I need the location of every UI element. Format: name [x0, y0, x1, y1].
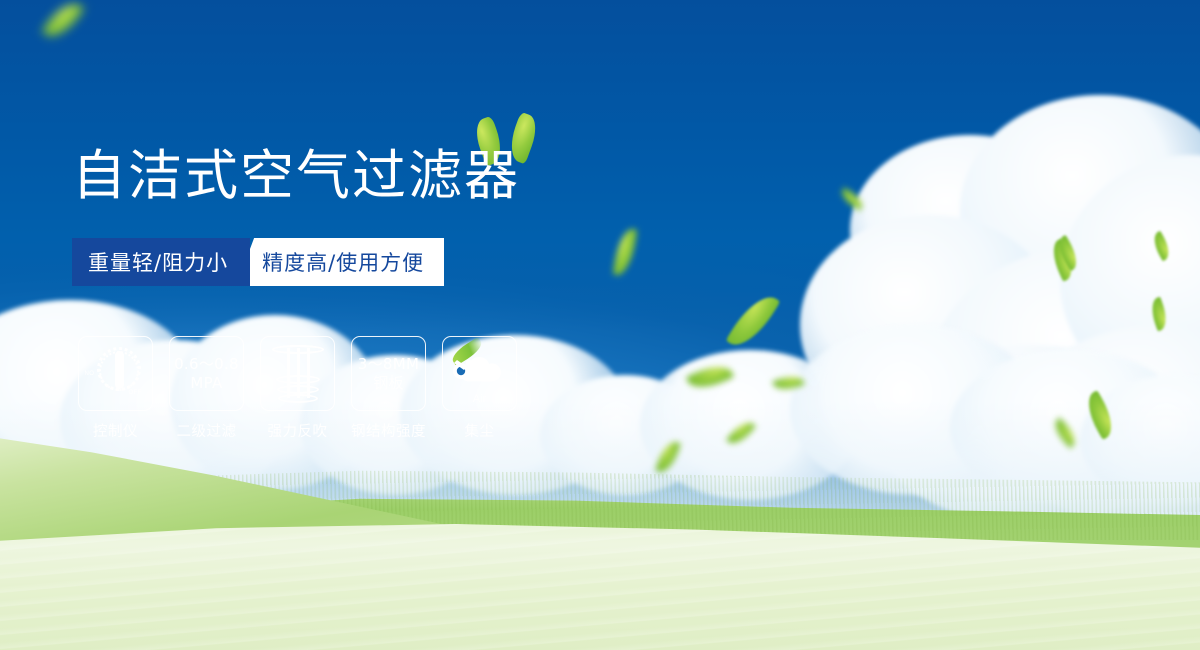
feature-icon-box: Air [442, 336, 517, 411]
cloud-air-icon: Air [448, 345, 512, 403]
feature-item-two-stage-filter[interactable]: 0.6～0.8 MPA 二级过滤 [169, 336, 244, 441]
pressure-unit: MPA [190, 374, 222, 393]
feature-icon-box: NO OFF [78, 336, 153, 411]
gauge-no-label: NO [85, 371, 95, 377]
air-label: Air [448, 393, 512, 405]
steel-material: 钢板 [373, 374, 404, 393]
steel-thickness: 3～8MM [358, 355, 419, 374]
feature-label: 控制仪 [78, 420, 153, 441]
gauge-off-label: OFF [129, 390, 142, 396]
feature-icon-box [260, 336, 335, 411]
feature-icon-box: 3～8MM 钢板 [351, 336, 426, 411]
page-title: 自洁式空气过滤器 [72, 145, 520, 207]
feature-item-dust-collection[interactable]: Air 集尘 [442, 336, 517, 441]
feature-item-strong-backblow[interactable]: 强力反吹 [260, 336, 335, 441]
feature-label: 二级过滤 [169, 420, 244, 441]
feature-item-control-instrument[interactable]: NO OFF 控制仪 [78, 336, 153, 441]
gauge-icon: NO OFF [85, 345, 147, 403]
product-banner: 自洁式空气过滤器 重量轻/阻力小 精度高/使用方便 NO OFF 控制仪 0.6… [0, 0, 1200, 650]
feature-label: 钢结构强度 [351, 420, 426, 441]
feature-icon-box: 0.6～0.8 MPA [169, 336, 244, 411]
subtitle-secondary: 精度高/使用方便 [236, 238, 444, 286]
feature-label: 集尘 [442, 420, 517, 441]
coil-icon [272, 345, 324, 403]
subtitle-primary: 重量轻/阻力小 [72, 238, 250, 286]
cloud-shape-icon [448, 351, 512, 393]
pressure-value: 0.6～0.8 [174, 355, 239, 374]
feature-item-steel-strength[interactable]: 3～8MM 钢板 钢结构强度 [351, 336, 426, 441]
subtitle-bar: 重量轻/阻力小 精度高/使用方便 [72, 238, 444, 286]
feature-label: 强力反吹 [260, 420, 335, 441]
feature-list: NO OFF 控制仪 0.6～0.8 MPA 二级过滤 强力反吹 [78, 336, 525, 441]
